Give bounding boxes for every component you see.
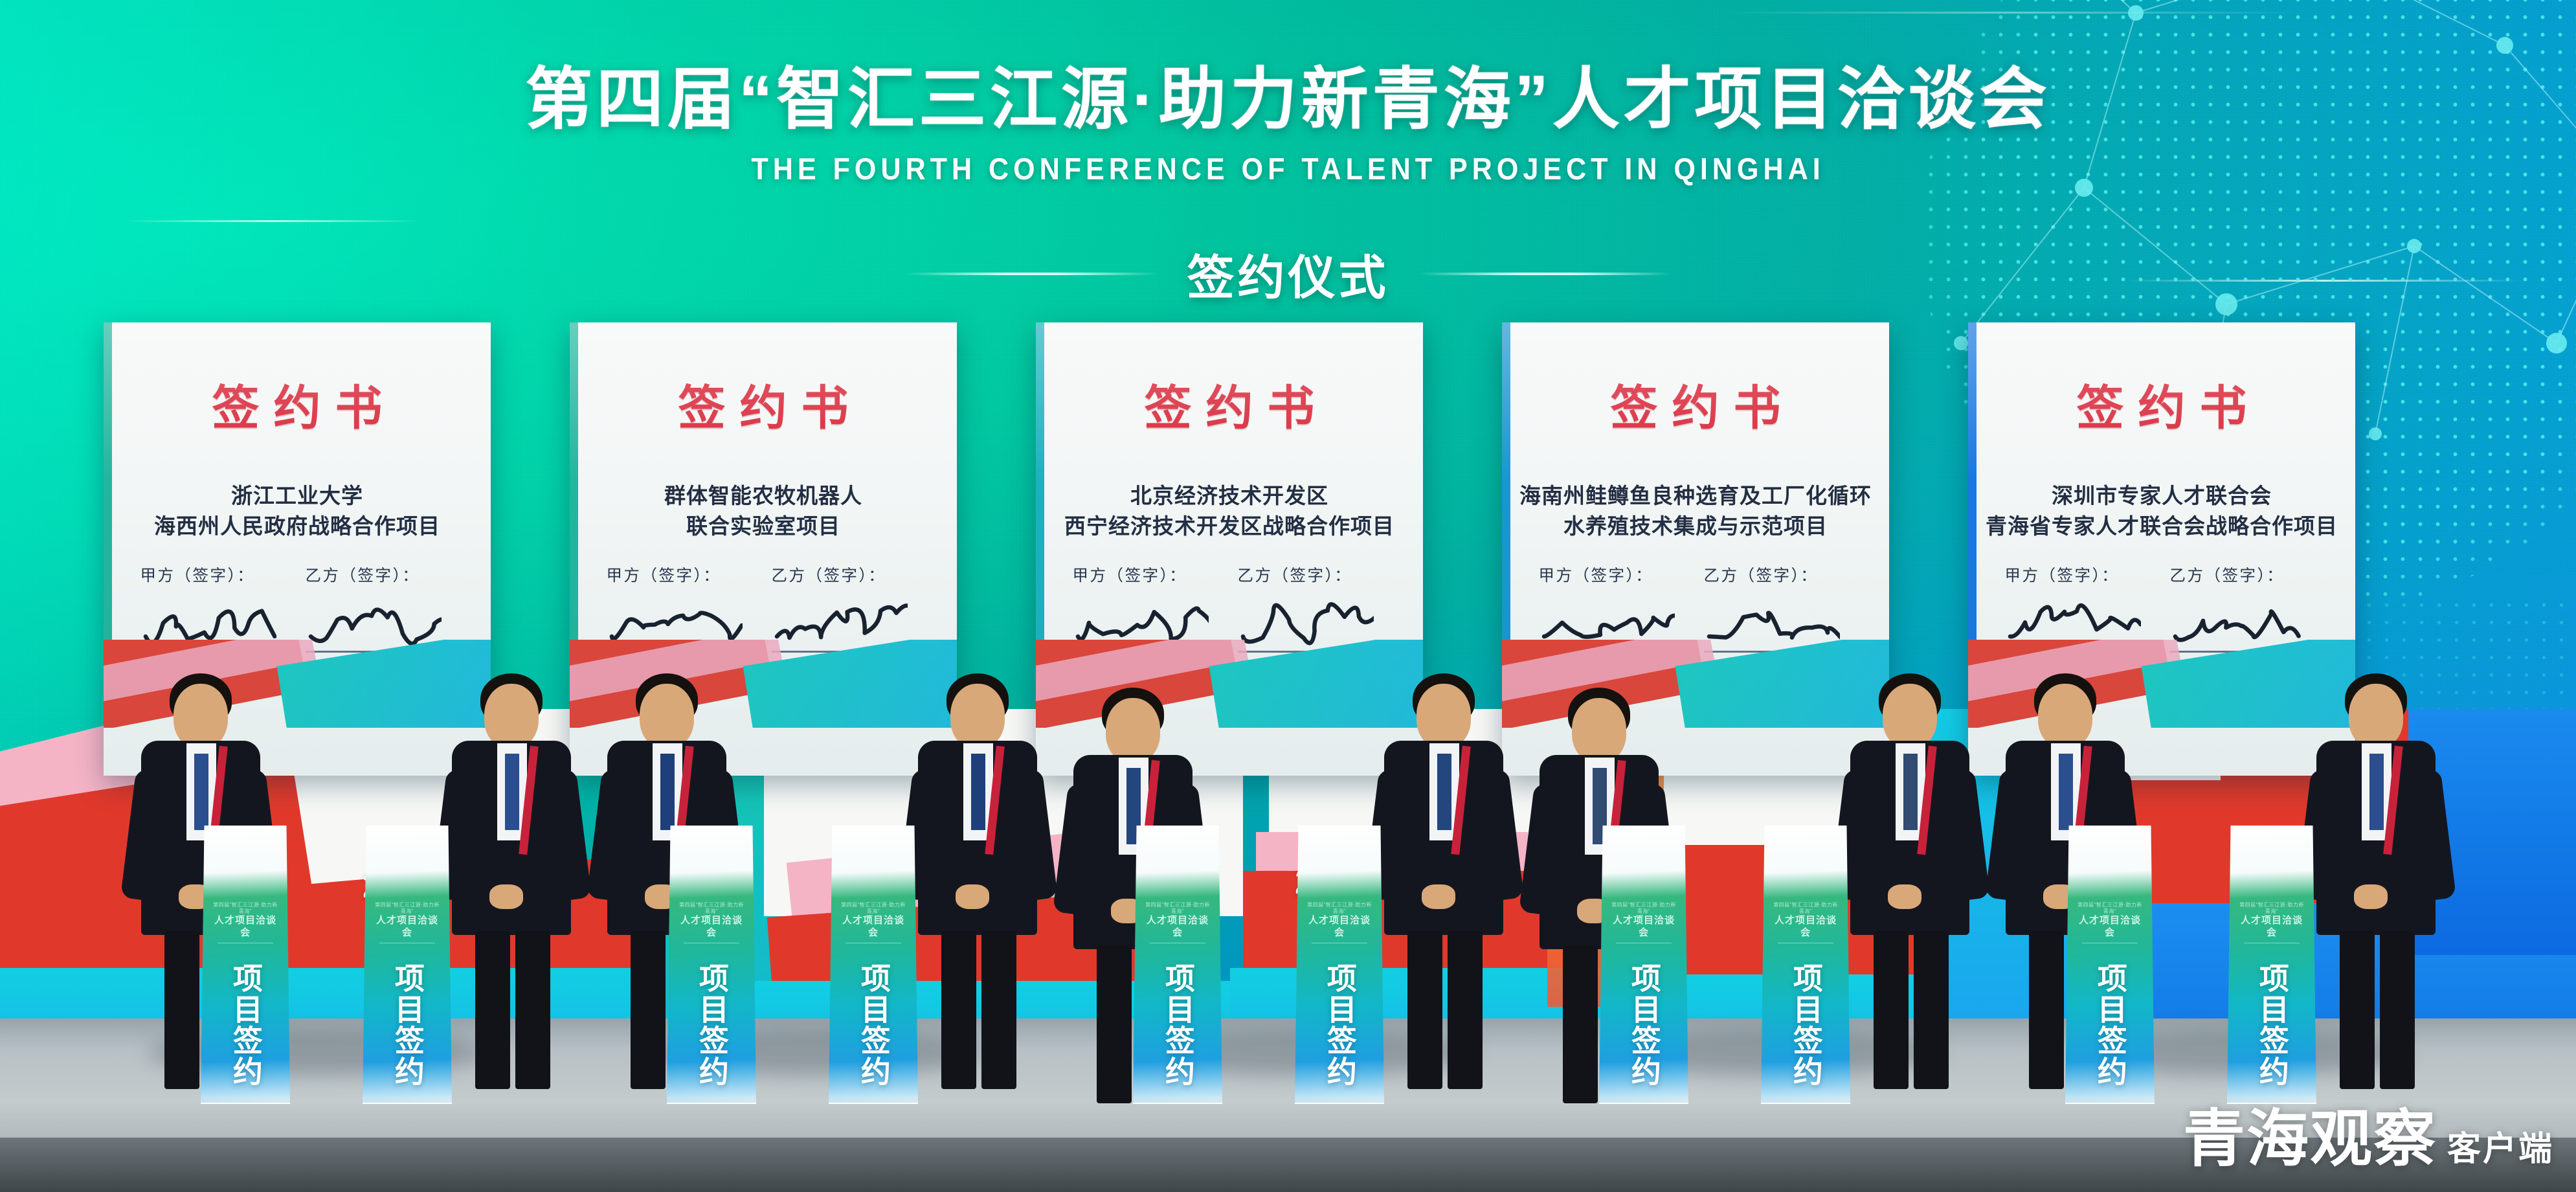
podium: 第四届“智汇三江源·助力新青海”人才项目洽谈会项目签约 — [667, 826, 756, 1104]
podium-event-name: 人才项目洽谈会 — [1144, 915, 1211, 939]
participant-leg-left — [2029, 931, 2064, 1089]
podium-event-block: 第四届“智汇三江源·助力新青海”人才项目洽谈会 — [1772, 902, 1839, 943]
participant-leg-left — [1097, 945, 1132, 1103]
ceremony-subtitle-row: 签约仪式 — [0, 240, 2576, 308]
board-heading: 签约书 — [198, 385, 397, 432]
signature-label: 甲方（签字）： — [1539, 563, 1688, 586]
board-project-name: 北京经济技术开发区西宁经济技术开发区战略合作项目 — [1055, 481, 1404, 542]
watermark: 青海观察 客户端 — [2183, 1108, 2554, 1170]
participant — [427, 673, 596, 1088]
board-project-line-1: 深圳市专家人才联合会 — [1986, 481, 2338, 512]
participant-leg-right — [2380, 931, 2415, 1089]
podium-event-name: 人才项目洽谈会 — [1610, 915, 1677, 939]
participant-head — [640, 684, 694, 748]
podium-event-small: 第四届“智汇三江源·助力新青海” — [2076, 902, 2144, 915]
podium-rule — [846, 943, 901, 943]
podium-vertical-label: 项目签约 — [1789, 963, 1822, 1087]
podium-rule — [1778, 943, 1833, 943]
board-project-line-2: 青海省专家人才联合会战略合作项目 — [1986, 512, 2338, 542]
podium-event-small: 第四届“智汇三江源·助力新青海” — [212, 902, 279, 915]
participant-tie — [2369, 754, 2384, 830]
podium-rule — [1616, 943, 1672, 943]
participant-leg-left — [2340, 931, 2375, 1089]
podium-event-small: 第四届“智汇三江源·助力新青海” — [2238, 902, 2305, 915]
podium-event-block: 第四届“智汇三江源·助力新青海”人才项目洽谈会 — [1144, 902, 1211, 943]
participant-leg-left — [631, 931, 666, 1089]
participant-leg-right — [1914, 931, 1949, 1089]
podium: 第四届“智汇三江源·助力新青海”人才项目洽谈会项目签约 — [2065, 826, 2155, 1104]
podium-event-small: 第四届“智汇三江源·助力新青海” — [1772, 902, 1839, 915]
participant-head — [1883, 684, 1937, 748]
podium-event-small: 第四届“智汇三江源·助力新青海” — [374, 902, 441, 915]
watermark-logo: 青海观察 — [2183, 1108, 2437, 1170]
participant-leg-right — [981, 931, 1016, 1089]
participant — [1826, 673, 1994, 1088]
board-project-name: 浙江工业大学海西州人民政府战略合作项目 — [145, 481, 449, 542]
participant-leg-right — [1448, 931, 1483, 1089]
podium-rule — [379, 943, 435, 943]
participant-tie — [1903, 754, 1918, 830]
participant-hand — [1888, 884, 1921, 909]
event-title-block: 第四届“智汇三江源·助力新青海”人才项目洽谈会 THE FOURTH CONFE… — [0, 65, 2576, 186]
board-project-name: 海南州鲑鳟鱼良种选育及工厂化循环水养殖技术集成与示范项目 — [1510, 481, 1881, 542]
board-project-line-1: 浙江工业大学 — [154, 481, 440, 512]
participant-head — [2038, 684, 2092, 748]
board-project-line-1: 北京经济技术开发区 — [1064, 481, 1394, 512]
podium-rule — [2082, 943, 2138, 943]
participant-leg-left — [164, 931, 199, 1089]
signature-label: 甲方（签字）： — [1073, 563, 1222, 586]
participant-leg-left — [941, 931, 976, 1089]
participant-hand — [956, 884, 989, 909]
podium-vertical-label: 项目签约 — [1628, 963, 1660, 1087]
signature-label: 乙方（签字）： — [772, 563, 921, 586]
podium-event-name: 人才项目洽谈会 — [2238, 915, 2305, 939]
podium: 第四届“智汇三江源·助力新青海”人才项目洽谈会项目签约 — [2227, 826, 2316, 1104]
participant-tie — [505, 754, 519, 830]
podium-vertical-label: 项目签约 — [1323, 963, 1356, 1087]
podium: 第四届“智汇三江源·助力新青海”人才项目洽谈会项目签约 — [1133, 826, 1222, 1104]
participant-hand — [2354, 884, 2388, 909]
signature-label: 甲方（签字）： — [140, 563, 289, 586]
podium-event-name: 人才项目洽谈会 — [840, 915, 907, 939]
podium-event-block: 第四届“智汇三江源·助力新青海”人才项目洽谈会 — [2076, 902, 2144, 943]
board-heading: 签约书 — [1596, 385, 1795, 432]
podium-event-block: 第四届“智汇三江源·助力新青海”人才项目洽谈会 — [374, 902, 441, 943]
wall-hairline-left — [123, 220, 421, 222]
board-project-line-2: 水养殖技术集成与示范项目 — [1519, 512, 1872, 542]
podium: 第四届“智汇三江源·助力新青海”人才项目洽谈会项目签约 — [1599, 826, 1688, 1104]
signature-label: 乙方（签字）： — [1704, 563, 1853, 586]
participant-head — [2349, 684, 2403, 748]
podium-event-small: 第四届“智汇三江源·助力新青海” — [678, 902, 745, 915]
participant-head — [174, 684, 228, 748]
podium-event-block: 第四届“智汇三江源·助力新青海”人才项目洽谈会 — [212, 902, 279, 943]
event-title-en: THE FOURTH CONFERENCE OF TALENT PROJECT … — [103, 151, 2473, 186]
ceremony-subtitle: 签约仪式 — [1187, 240, 1389, 308]
signature-label: 甲方（签字）： — [607, 563, 756, 586]
participant-head — [1417, 684, 1471, 748]
podium-vertical-label: 项目签约 — [695, 963, 728, 1087]
board-project-line-2: 海西州人民政府战略合作项目 — [154, 512, 440, 542]
podium-vertical-label: 项目签约 — [2094, 963, 2126, 1087]
board-project-name: 群体智能农牧机器人联合实验室项目 — [655, 481, 871, 542]
participant-leg-left — [475, 931, 510, 1089]
board-heading: 签约书 — [1130, 385, 1329, 432]
podium-rule — [1312, 943, 1367, 943]
board-project-line-1: 群体智能农牧机器人 — [664, 481, 862, 512]
podium-event-name: 人才项目洽谈会 — [678, 915, 745, 939]
podium-event-name: 人才项目洽谈会 — [1306, 915, 1373, 939]
podium-vertical-label: 项目签约 — [229, 963, 262, 1087]
participant-leg-right — [515, 931, 550, 1089]
podium-event-block: 第四届“智汇三江源·助力新青海”人才项目洽谈会 — [678, 902, 745, 943]
podium-vertical-label: 项目签约 — [857, 963, 890, 1087]
podium-rule — [2244, 943, 2300, 943]
participant-head — [1572, 698, 1626, 763]
podium: 第四届“智汇三江源·助力新青海”人才项目洽谈会项目签约 — [829, 826, 918, 1104]
podium-event-block: 第四届“智汇三江源·助力新青海”人才项目洽谈会 — [2238, 902, 2305, 943]
participant — [893, 673, 1062, 1088]
board-project-line-1: 海南州鲑鳟鱼良种选育及工厂化循环 — [1519, 481, 1872, 512]
participant-tie — [194, 754, 208, 830]
subtitle-rule-left — [905, 273, 1158, 275]
participant — [1360, 673, 1528, 1088]
participant-hand — [489, 884, 523, 909]
podium: 第四届“智汇三江源·助力新青海”人才项目洽谈会项目签约 — [363, 826, 452, 1104]
signature-label: 乙方（签字）： — [306, 563, 454, 586]
board-project-line-2: 西宁经济技术开发区战略合作项目 — [1064, 512, 1394, 542]
board-heading: 签约书 — [664, 385, 863, 432]
podium-event-block: 第四届“智汇三江源·助力新青海”人才项目洽谈会 — [840, 902, 907, 943]
participant-head — [950, 684, 1005, 748]
podium-event-name: 人才项目洽谈会 — [374, 915, 441, 939]
participant-leg-left — [1874, 931, 1909, 1089]
podium-event-small: 第四届“智汇三江源·助力新青海” — [1144, 902, 1211, 915]
participant-tie — [2059, 754, 2073, 830]
participant-head — [484, 684, 539, 748]
event-title-cn: 第四届“智汇三江源·助力新青海”人才项目洽谈会 — [0, 65, 2576, 135]
board-heading: 签约书 — [2063, 385, 2261, 432]
podium: 第四届“智汇三江源·助力新青海”人才项目洽谈会项目签约 — [1295, 826, 1384, 1104]
participant — [2292, 673, 2460, 1088]
podium-vertical-label: 项目签约 — [391, 963, 423, 1087]
participant-tie — [660, 754, 675, 830]
board-project-name: 深圳市专家人才联合会青海省专家人才联合会战略合作项目 — [1977, 481, 2347, 542]
participant-hand — [1422, 884, 1455, 909]
participant-head — [1106, 698, 1160, 763]
podium-event-block: 第四届“智汇三江源·助力新青海”人才项目洽谈会 — [1610, 902, 1677, 943]
podium-rule — [684, 943, 739, 943]
podium-vertical-label: 项目签约 — [2256, 963, 2288, 1087]
podium-event-small: 第四届“智汇三江源·助力新青海” — [1610, 902, 1677, 915]
board-project-line-2: 联合实验室项目 — [664, 512, 862, 542]
podium-event-block: 第四届“智汇三江源·助力新青海”人才项目洽谈会 — [1306, 902, 1373, 943]
podium: 第四届“智汇三江源·助力新青海”人才项目洽谈会项目签约 — [201, 826, 290, 1104]
podium-rule — [218, 943, 273, 943]
signature-label: 乙方（签字）： — [2170, 563, 2319, 586]
photo-canvas: 第四届“智汇三江源·助力新青海”人才项目洽谈会 THE FOURTH CONFE… — [0, 0, 2576, 1192]
signature-label: 甲方（签字）： — [2005, 563, 2154, 586]
podium-event-name: 人才项目洽谈会 — [1772, 915, 1839, 939]
podium: 第四届“智汇三江源·助力新青海”人才项目洽谈会项目签约 — [1761, 826, 1850, 1104]
participant-tie — [971, 754, 985, 830]
participant-leg-left — [1407, 931, 1442, 1089]
participant-leg-left — [1563, 945, 1598, 1103]
participant-tie — [1437, 754, 1451, 830]
podium-event-name: 人才项目洽谈会 — [2076, 915, 2144, 939]
podium-event-name: 人才项目洽谈会 — [212, 915, 279, 939]
podium-rule — [1150, 943, 1205, 943]
signature-label: 乙方（签字）： — [1238, 563, 1387, 586]
podium-event-small: 第四届“智汇三江源·助力新青海” — [1306, 902, 1373, 915]
watermark-subtext: 客户端 — [2447, 1132, 2554, 1170]
subtitle-rule-right — [1419, 273, 1672, 275]
podium-event-small: 第四届“智汇三江源·助力新青海” — [840, 902, 907, 915]
podium-vertical-label: 项目签约 — [1161, 963, 1194, 1087]
